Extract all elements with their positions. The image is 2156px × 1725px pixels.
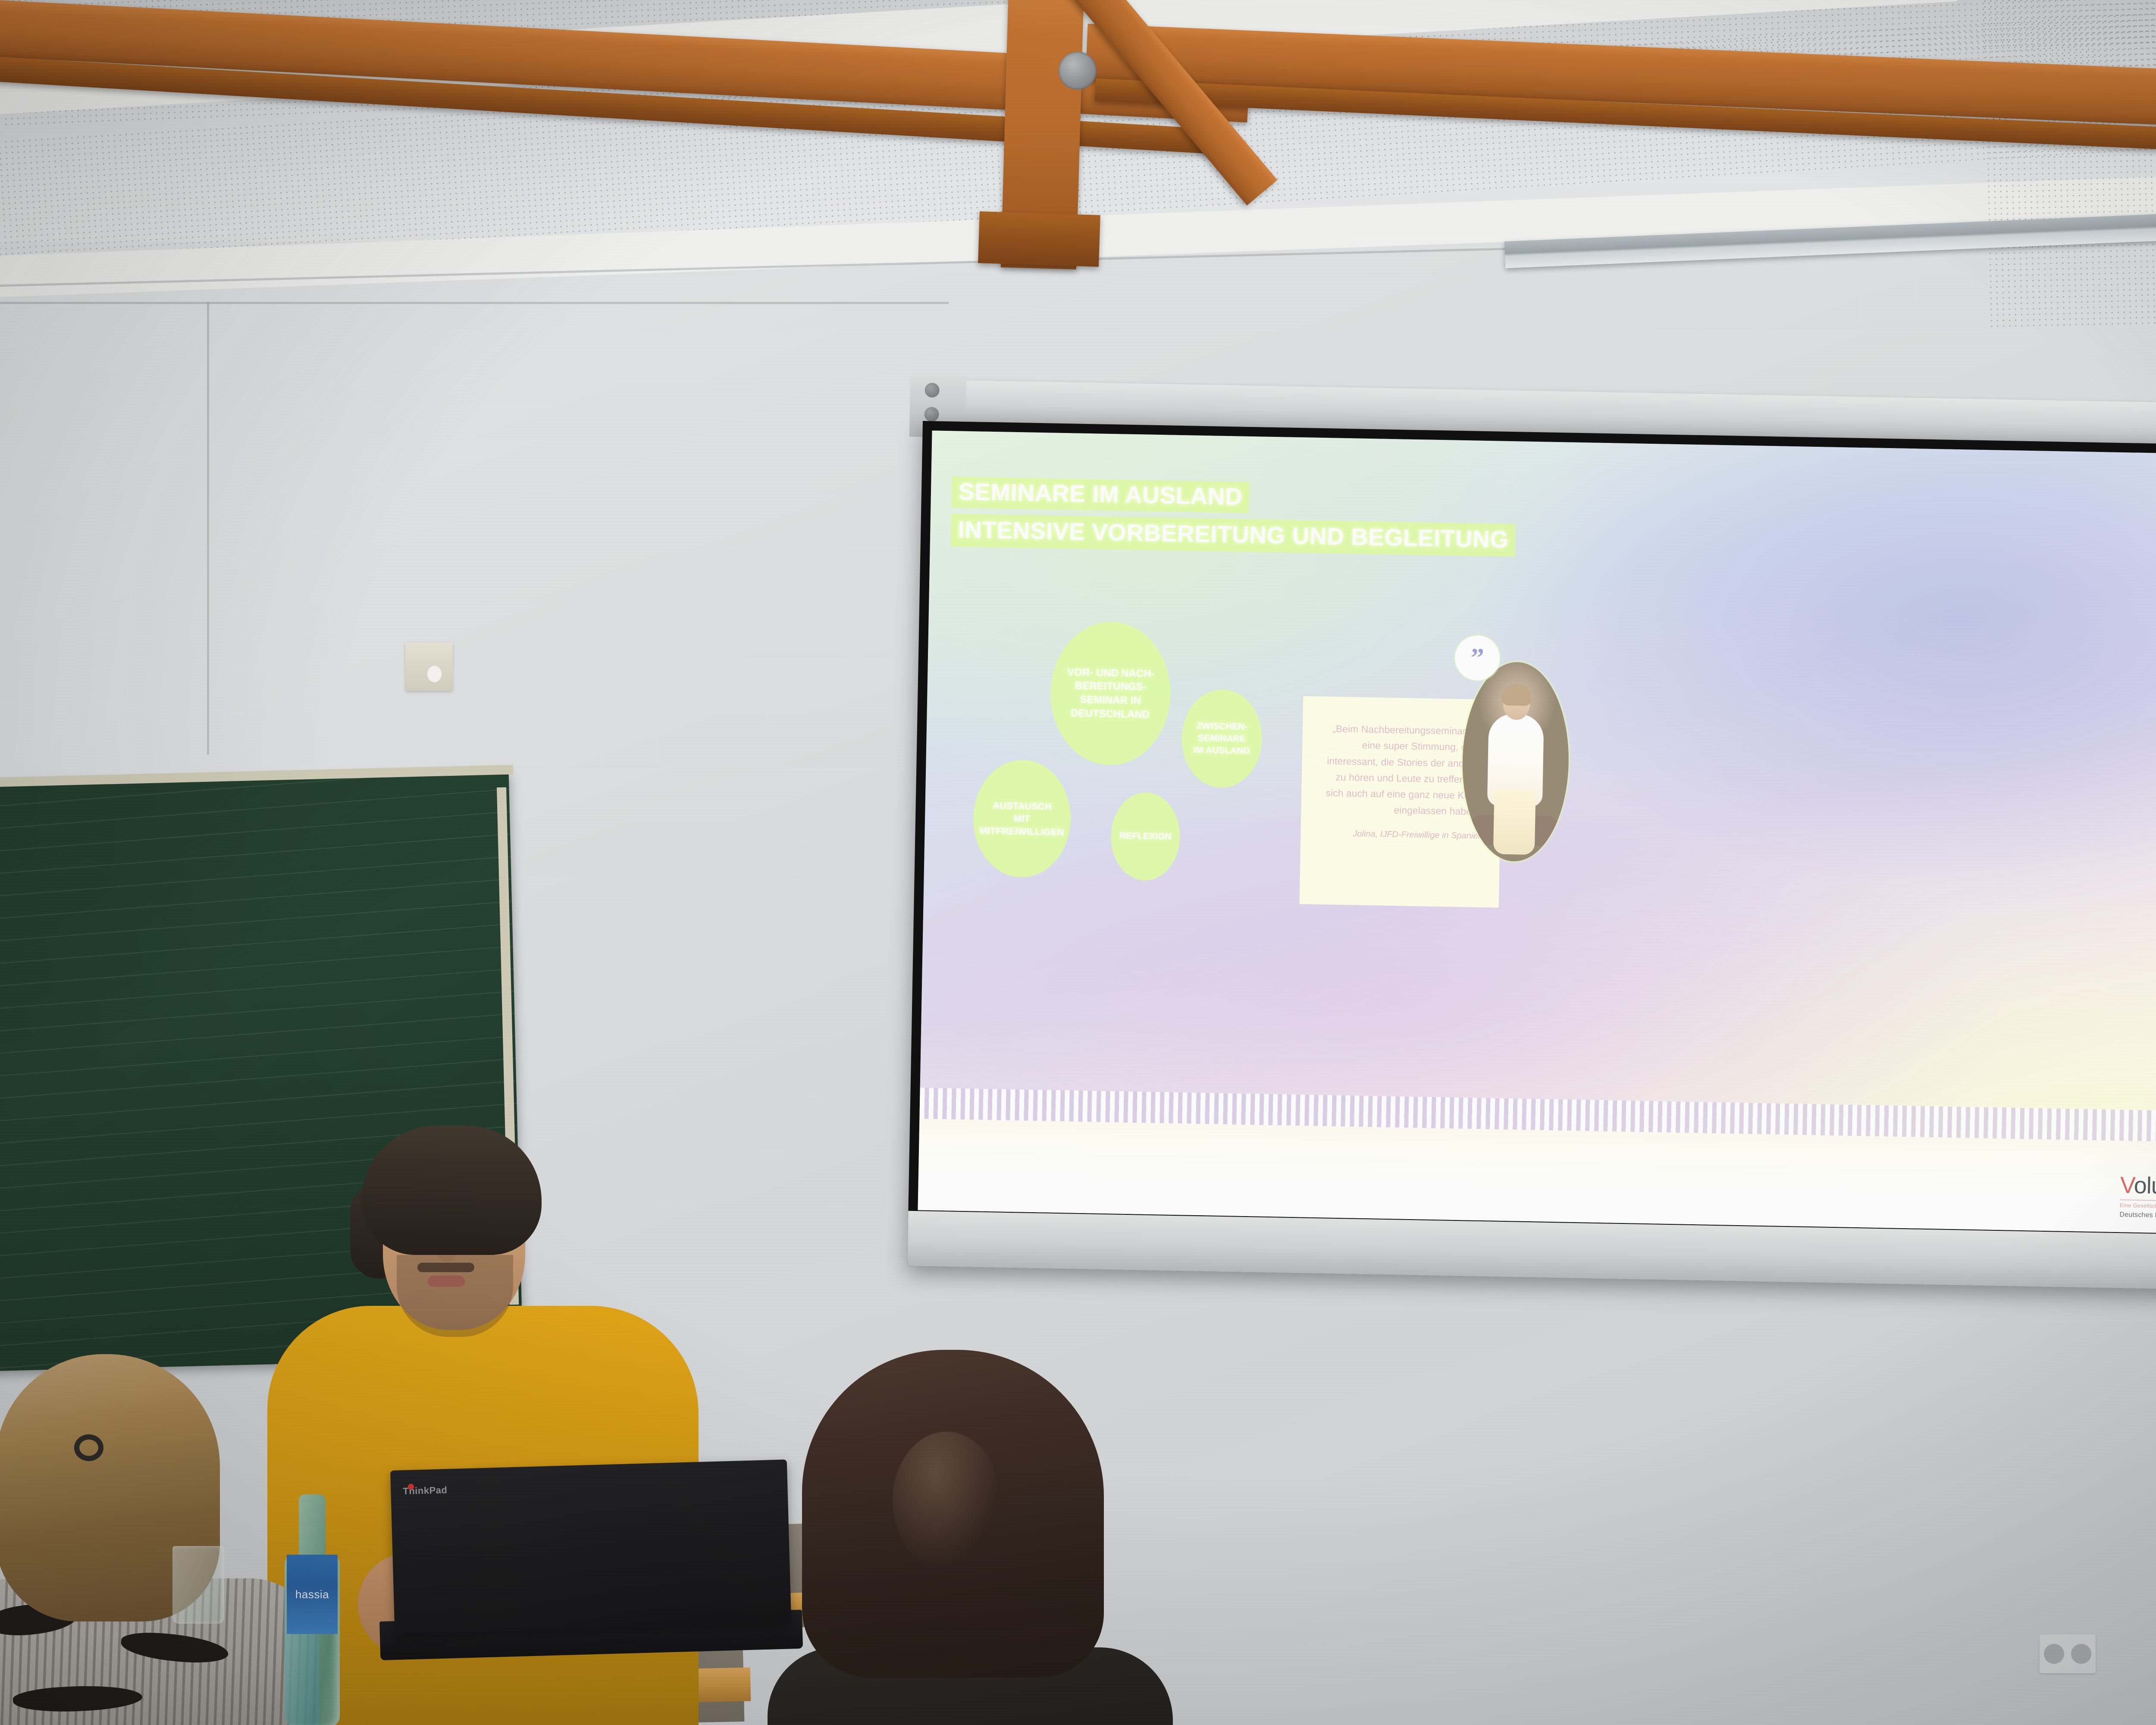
projected-slide: SEMINARE IM AUSLAND INTENSIVE VORBEREITU… <box>918 430 2156 1234</box>
quote-glyph: ” <box>1470 651 1484 665</box>
drinking-glass[interactable] <box>172 1546 224 1624</box>
slide-title-line-2: INTENSIVE VORBEREITUNG UND BEGLEITUNG <box>951 514 1516 557</box>
wall-sensor-lens <box>427 666 442 682</box>
presenter-mouth <box>428 1276 465 1287</box>
testimonial-attribution: Jolina, IJFD-Freiwillige in Spanien <box>1315 828 1482 841</box>
bubble-line: BEREITUNGS- <box>1075 679 1147 694</box>
logo-subline-1: Eine Gesellschaft des DRK in Hessen <box>2120 1202 2156 1210</box>
screen-border-frame: SEMINARE IM AUSLAND INTENSIVE VORBEREITU… <box>907 421 2156 1291</box>
screen-surface: SEMINARE IM AUSLAND INTENSIVE VORBEREITU… <box>918 430 2156 1234</box>
wall-seam-left-h <box>0 302 949 304</box>
truss-bolt-center <box>1059 52 1097 90</box>
bubble-line: MITFREIWILLIGEN <box>980 824 1064 838</box>
logo-divider <box>2120 1199 2156 1202</box>
bubble-line: SEMINARE <box>1198 732 1246 745</box>
wall-seam-left-v <box>207 302 209 755</box>
wall-sensor-box <box>405 643 453 691</box>
testimonial-portrait-photo <box>1461 661 1570 862</box>
logo-word-rest: olunta <box>2134 1173 2156 1200</box>
portrait-hair <box>1501 684 1532 706</box>
bubble-line: IM AUSLAND <box>1193 744 1250 757</box>
bubble-line: AUSTAUSCH <box>993 800 1052 813</box>
logo-v-glyph: V <box>2120 1172 2134 1198</box>
bubble-line: SEMINAR IN <box>1080 693 1141 708</box>
bubble-vor-und-nachbereitungsseminar: VOR- UND NACH- BEREITUNGS- SEMINAR IN DE… <box>1049 621 1172 766</box>
bracket-screw-bottom <box>924 407 939 422</box>
hair-clip-icon <box>74 1434 103 1461</box>
laptop-screen-lid[interactable]: ThinkPad <box>390 1459 791 1634</box>
bubble-line: MIT <box>1014 812 1030 825</box>
volunta-logo: Volunta Eine Gesellschaft des DRK in Hes… <box>2119 1173 2156 1221</box>
logo-subline-2: Deutsches Rotes Kreuz <box>2119 1211 2156 1220</box>
bubble-line: REFLEXION <box>1119 830 1172 843</box>
bubble-reflexion: REFLEXION <box>1110 792 1181 881</box>
bubble-line: ZWISCHEN- <box>1196 720 1247 733</box>
projection-screen: SEMINARE IM AUSLAND INTENSIVE VORBEREITU… <box>918 379 2156 1320</box>
classroom-photo-scene: SEMINARE IM AUSLAND INTENSIVE VORBEREITU… <box>0 0 2156 1725</box>
roof-post-center-foot <box>978 211 1100 267</box>
logo-wordmark: Volunta <box>2120 1173 2156 1198</box>
wall-power-socket <box>2040 1634 2096 1673</box>
bottle-label: hassia <box>287 1555 338 1634</box>
presenter-moustache <box>417 1263 474 1272</box>
bubble-austausch-mit-mitfreiwilligen: AUSTAUSCH MIT MITFREIWILLIGEN <box>972 759 1072 878</box>
top-pattern-motif-2 <box>120 1630 229 1666</box>
bubble-line: VOR- UND NACH- <box>1067 665 1155 681</box>
attendee-darkhair-person <box>750 1350 1190 1725</box>
testimonial-quote: „Beim Nachbereitungsseminar war eine sup… <box>1316 721 1485 820</box>
acoustic-panel-right <box>1984 0 2156 328</box>
slide-title-line-1: SEMINARE IM AUSLAND <box>951 477 1250 513</box>
hair-highlight <box>893 1432 1000 1570</box>
bubble-zwischenseminare-im-ausland: ZWISCHEN- SEMINARE IM AUSLAND <box>1181 689 1263 788</box>
bracket-screw-top <box>924 383 940 398</box>
attendee-blonde-person <box>0 1354 319 1725</box>
bubble-line: DEUTSCHLAND <box>1071 706 1150 721</box>
presenter-hair <box>361 1126 542 1255</box>
top-pattern-motif-3 <box>13 1683 143 1715</box>
water-bottle[interactable]: hassia <box>285 1494 340 1725</box>
portrait-legs <box>1493 789 1536 855</box>
